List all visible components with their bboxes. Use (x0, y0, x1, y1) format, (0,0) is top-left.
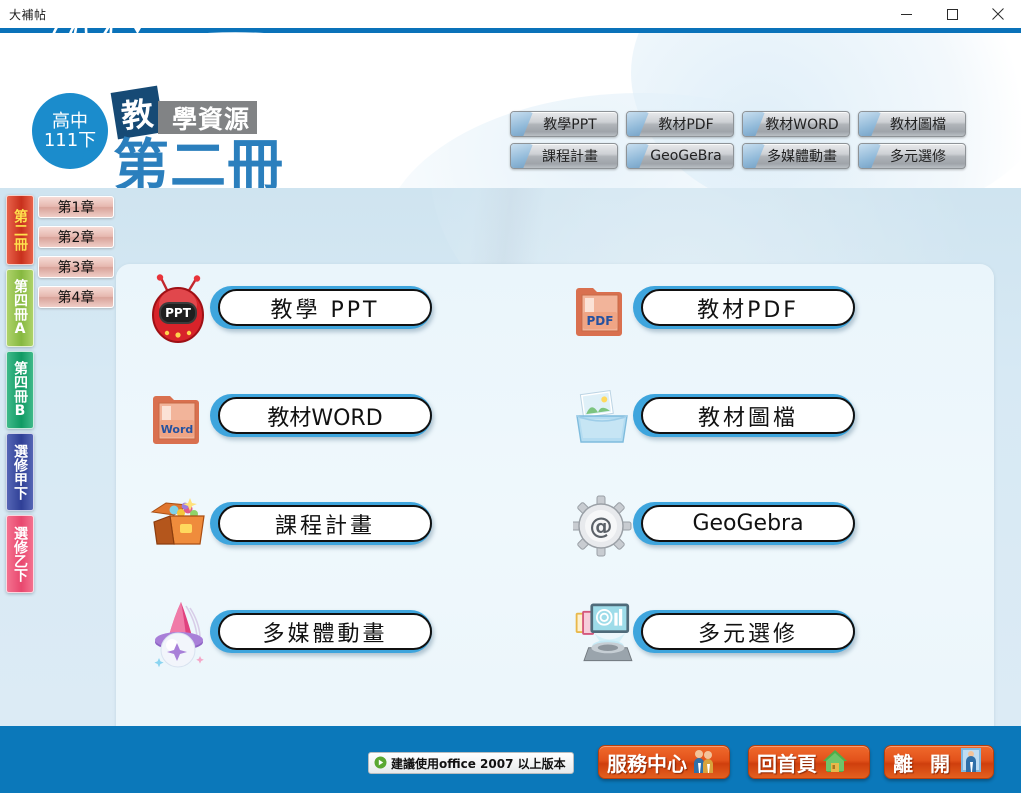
exit-label: 離 開 (893, 748, 955, 777)
chapter-list: 第1章 第2章 第3章 第4章 (38, 196, 116, 316)
service-center-button[interactable]: 服務中心 (598, 745, 730, 779)
resource-geogebra-label: GeoGebra (692, 511, 803, 536)
volume-elective-a-label: 選修甲下 (12, 444, 28, 500)
resource-material-word-label: 教材WORD (267, 400, 382, 432)
nav-geogebra[interactable]: GeoGeBra (626, 143, 734, 169)
logo-tag-primary-label: 教 (119, 88, 156, 137)
resource-cell: 多元選修 (555, 596, 978, 680)
nav-images-label: 教材圖檔 (878, 114, 946, 134)
house-icon (822, 747, 848, 777)
photo-tray-icon (573, 382, 641, 452)
word-book-icon: Word (150, 382, 218, 452)
nav-word[interactable]: 教材WORD (742, 111, 850, 137)
nav-images[interactable]: 教材圖檔 (858, 111, 966, 137)
resource-elective-label: 多元選修 (698, 616, 798, 648)
volume-elective-b-label: 選修乙下 (12, 526, 28, 582)
window-controls (883, 0, 1021, 28)
header-nav-row-2: 課程計畫 GeoGeBra 多媒體動畫 多元選修 (510, 143, 1000, 169)
sheen-icon (626, 111, 649, 137)
nav-pdf[interactable]: 教材PDF (626, 111, 734, 137)
resource-cell: PDF 教材PDF (555, 272, 978, 356)
chapter-2-button[interactable]: 第2章 (38, 226, 114, 248)
sheen-icon (510, 111, 533, 137)
sidebar-item-volume-2[interactable]: 第二冊 (6, 195, 34, 265)
page-body: 第二冊 第四冊A 第四冊B 選修甲下 選修乙下 第1章 第2章 第3章 第4章 (0, 188, 1021, 726)
brand-logo: 高中 111下 教 學資源 第二冊 (25, 41, 325, 186)
nav-plan-label: 課程計畫 (530, 146, 598, 166)
logo-tag-secondary-label: 學資源 (172, 100, 250, 136)
sidebar-item-volume-elective-b[interactable]: 選修乙下 (6, 515, 34, 593)
resource-elective[interactable]: 多元選修 (633, 610, 855, 653)
resource-cell: @ GeoGebra (555, 488, 978, 572)
resource-course-plan-label: 課程計畫 (275, 508, 375, 540)
pdf-book-icon: PDF (573, 274, 641, 344)
chapter-3-button[interactable]: 第3章 (38, 256, 114, 278)
resource-material-pdf-label: 教材PDF (697, 292, 799, 324)
door-exit-icon (960, 747, 982, 777)
sidebar-item-volume-elective-a[interactable]: 選修甲下 (6, 433, 34, 511)
resource-cell: 課程計畫 (132, 488, 555, 572)
resource-cell: Word 教材WORD (132, 380, 555, 464)
sidebar-item-volume-4b[interactable]: 第四冊B (6, 351, 34, 429)
resource-material-word[interactable]: 教材WORD (210, 394, 432, 437)
volume-2-label: 第二冊 (12, 209, 28, 251)
magic-hat-icon (150, 598, 218, 668)
nav-plan[interactable]: 課程計畫 (510, 143, 618, 169)
chapter-3-label: 第3章 (58, 257, 95, 277)
home-label: 回首頁 (757, 748, 817, 777)
exit-button[interactable]: 離 開 (884, 745, 994, 779)
sidebar-item-volume-4a[interactable]: 第四冊A (6, 269, 34, 347)
volume-4a-label: 第四冊A (12, 279, 28, 337)
minimize-icon[interactable] (883, 0, 929, 28)
resource-teaching-ppt-label: 教學 PPT (271, 292, 380, 324)
grade-bubble-tail (82, 149, 101, 166)
logo-tag-secondary: 學資源 (158, 101, 257, 134)
brand-signature (36, 6, 336, 62)
header-nav-row-1: 教學PPT 教材PDF 教材WORD 教材圖檔 (510, 111, 1000, 137)
office-version-note: 建議使用office 2007 以上版本 (368, 752, 574, 774)
ppt-tv-icon: PPT (150, 274, 218, 344)
resource-geogebra[interactable]: GeoGebra (633, 502, 855, 545)
resource-multimedia-label: 多媒體動畫 (262, 616, 387, 648)
maximize-icon[interactable] (929, 0, 975, 28)
resource-material-images-label: 教材圖檔 (698, 400, 798, 432)
volume-4b-label: 第四冊B (12, 361, 28, 419)
resource-teaching-ppt[interactable]: 教學 PPT (210, 286, 432, 329)
svg-text:PPT: PPT (165, 306, 192, 320)
play-icon (374, 754, 387, 773)
nav-elective[interactable]: 多元選修 (858, 143, 966, 169)
resource-material-pdf[interactable]: 教材PDF (633, 286, 855, 329)
nav-ppt-label: 教學PPT (531, 114, 596, 134)
nav-elective-label: 多元選修 (878, 146, 946, 166)
resource-material-images[interactable]: 教材圖檔 (633, 394, 855, 437)
resource-cell: PPT 教學 PPT (132, 272, 555, 356)
resource-cell: 多媒體動畫 (132, 596, 555, 680)
home-button[interactable]: 回首頁 (748, 745, 870, 779)
logo-tag-primary: 教 (111, 86, 165, 140)
resource-multimedia[interactable]: 多媒體動畫 (210, 610, 432, 653)
grade-bubble-line2: 111下 (44, 131, 96, 150)
header-nav: 教學PPT 教材PDF 教材WORD 教材圖檔 課程計畫 GeoGeB (510, 111, 1000, 175)
office-version-note-label: 建議使用office 2007 以上版本 (391, 755, 566, 772)
resource-course-plan[interactable]: 課程計畫 (210, 502, 432, 545)
resource-grid: PPT 教學 PPT (116, 272, 994, 680)
nav-animation-label: 多媒體動畫 (755, 146, 837, 166)
nav-animation[interactable]: 多媒體動畫 (742, 143, 850, 169)
content-panel: PPT 教學 PPT (116, 264, 994, 726)
svg-text:PDF: PDF (587, 314, 614, 328)
resource-cell: 教材圖檔 (555, 380, 978, 464)
chapter-1-button[interactable]: 第1章 (38, 196, 114, 218)
service-center-label: 服務中心 (607, 748, 687, 777)
nav-ppt[interactable]: 教學PPT (510, 111, 618, 137)
chapter-4-button[interactable]: 第4章 (38, 286, 114, 308)
page-title: 第二冊 (113, 139, 284, 188)
nav-geogebra-label: GeoGeBra (638, 148, 721, 164)
chapter-2-label: 第2章 (58, 227, 95, 247)
svg-text:@: @ (590, 514, 613, 540)
treasure-box-icon (150, 490, 218, 560)
svg-text:Word: Word (161, 423, 194, 436)
close-icon[interactable] (975, 0, 1021, 28)
volume-tabs: 第二冊 第四冊A 第四冊B 選修甲下 選修乙下 (6, 195, 34, 597)
gear-at-icon: @ (573, 490, 641, 560)
nav-pdf-label: 教材PDF (646, 114, 713, 134)
chapter-4-label: 第4章 (58, 287, 95, 307)
nav-word-label: 教材WORD (753, 114, 838, 134)
grade-bubble-line1: 高中 (52, 112, 88, 131)
people-icon (692, 747, 716, 777)
hologram-icon (573, 598, 641, 668)
chapter-1-label: 第1章 (58, 197, 95, 217)
